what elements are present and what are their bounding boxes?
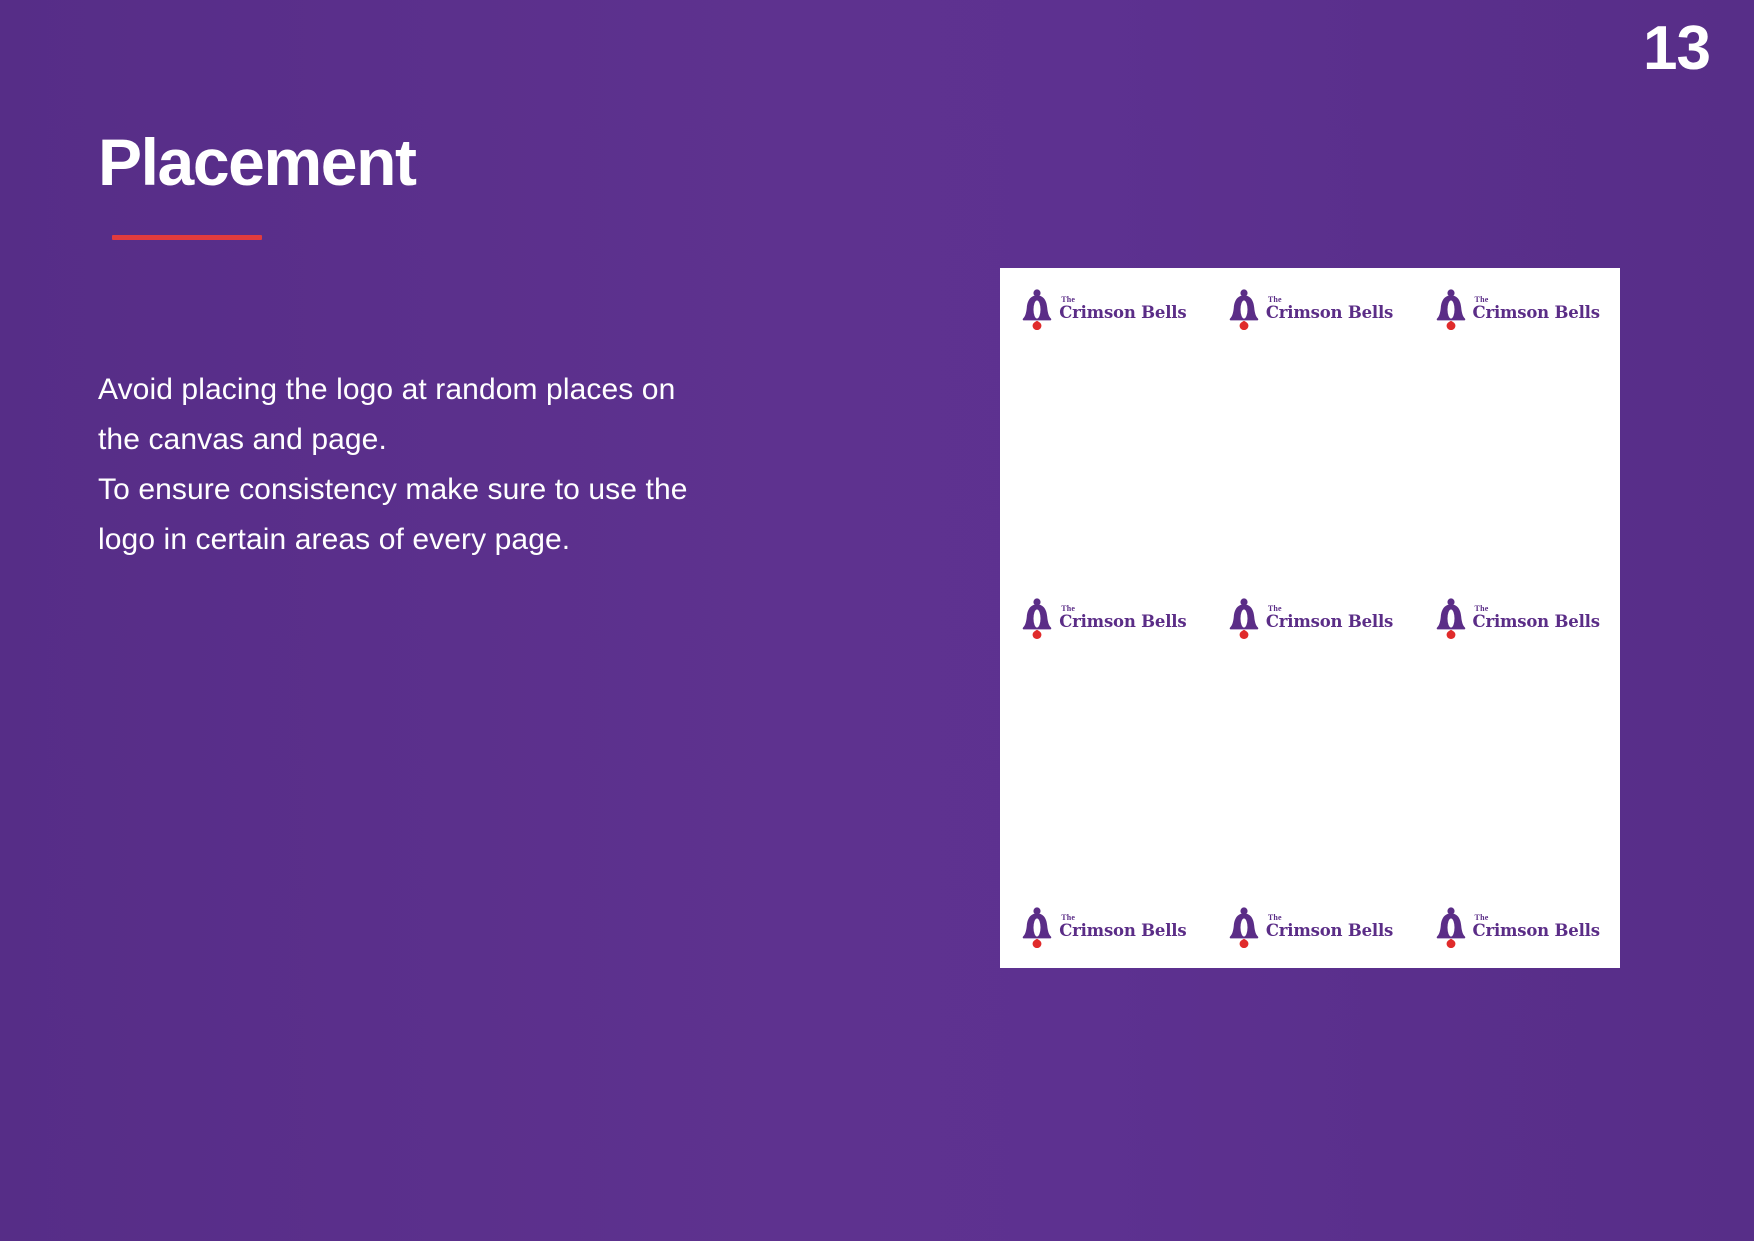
logo-wordmark: The Crimson Bells — [1473, 914, 1600, 940]
logo-wordmark: The Crimson Bells — [1473, 605, 1600, 631]
body-line-1: Avoid placing the logo at random places … — [98, 365, 818, 415]
brand-logo: The Crimson Bells — [1227, 906, 1393, 948]
logo-cell-middle-center: The Crimson Bells — [1207, 501, 1414, 734]
logo-placement-canvas: The Crimson Bells The Crimson Bells — [1000, 268, 1620, 968]
logo-cell-bottom-left: The Crimson Bells — [1000, 735, 1207, 968]
logo-name-text: Crimson Bells — [1059, 305, 1186, 322]
logo-wordmark: The Crimson Bells — [1266, 605, 1393, 631]
brand-logo: The Crimson Bells — [1020, 906, 1186, 948]
logo-cell-top-left: The Crimson Bells — [1000, 268, 1207, 501]
brand-logo: The Crimson Bells — [1434, 906, 1600, 948]
brand-logo: The Crimson Bells — [1020, 597, 1186, 639]
logo-cell-middle-right: The Crimson Bells — [1413, 501, 1620, 734]
bell-icon — [1020, 597, 1054, 639]
logo-name-text: Crimson Bells — [1059, 923, 1186, 940]
logo-cell-middle-left: The Crimson Bells — [1000, 501, 1207, 734]
logo-name-text: Crimson Bells — [1266, 923, 1393, 940]
brand-logo: The Crimson Bells — [1434, 597, 1600, 639]
body-copy: Avoid placing the logo at random places … — [98, 365, 818, 564]
logo-name-text: Crimson Bells — [1473, 614, 1600, 631]
brand-logo: The Crimson Bells — [1020, 288, 1186, 330]
logo-cell-top-center: The Crimson Bells — [1207, 268, 1414, 501]
logo-name-text: Crimson Bells — [1473, 305, 1600, 322]
left-content-column: Placement Avoid placing the logo at rand… — [98, 128, 858, 564]
bell-icon — [1020, 288, 1054, 330]
logo-wordmark: The Crimson Bells — [1266, 914, 1393, 940]
title-accent-rule — [112, 235, 262, 240]
bell-icon — [1227, 288, 1261, 330]
bell-icon — [1227, 597, 1261, 639]
logo-wordmark: The Crimson Bells — [1473, 296, 1600, 322]
body-line-3: To ensure consistency make sure to use t… — [98, 465, 818, 515]
logo-cell-bottom-right: The Crimson Bells — [1413, 735, 1620, 968]
page-title: Placement — [98, 128, 858, 197]
logo-cell-top-right: The Crimson Bells — [1413, 268, 1620, 501]
logo-wordmark: The Crimson Bells — [1059, 914, 1186, 940]
brand-logo: The Crimson Bells — [1227, 288, 1393, 330]
slide-placement: 13 Placement Avoid placing the logo at r… — [0, 0, 1754, 1241]
body-line-4: logo in certain areas of every page. — [98, 515, 818, 565]
bell-icon — [1434, 906, 1468, 948]
logo-name-text: Crimson Bells — [1059, 614, 1186, 631]
body-line-2: the canvas and page. — [98, 415, 818, 465]
bell-icon — [1434, 597, 1468, 639]
page-number: 13 — [1643, 18, 1710, 80]
bell-icon — [1020, 906, 1054, 948]
logo-name-text: Crimson Bells — [1266, 614, 1393, 631]
logo-wordmark: The Crimson Bells — [1059, 296, 1186, 322]
logo-name-text: Crimson Bells — [1473, 923, 1600, 940]
logo-name-text: Crimson Bells — [1266, 305, 1393, 322]
logo-wordmark: The Crimson Bells — [1266, 296, 1393, 322]
brand-logo: The Crimson Bells — [1227, 597, 1393, 639]
logo-wordmark: The Crimson Bells — [1059, 605, 1186, 631]
bell-icon — [1434, 288, 1468, 330]
logo-cell-bottom-center: The Crimson Bells — [1207, 735, 1414, 968]
bell-icon — [1227, 906, 1261, 948]
brand-logo: The Crimson Bells — [1434, 288, 1600, 330]
